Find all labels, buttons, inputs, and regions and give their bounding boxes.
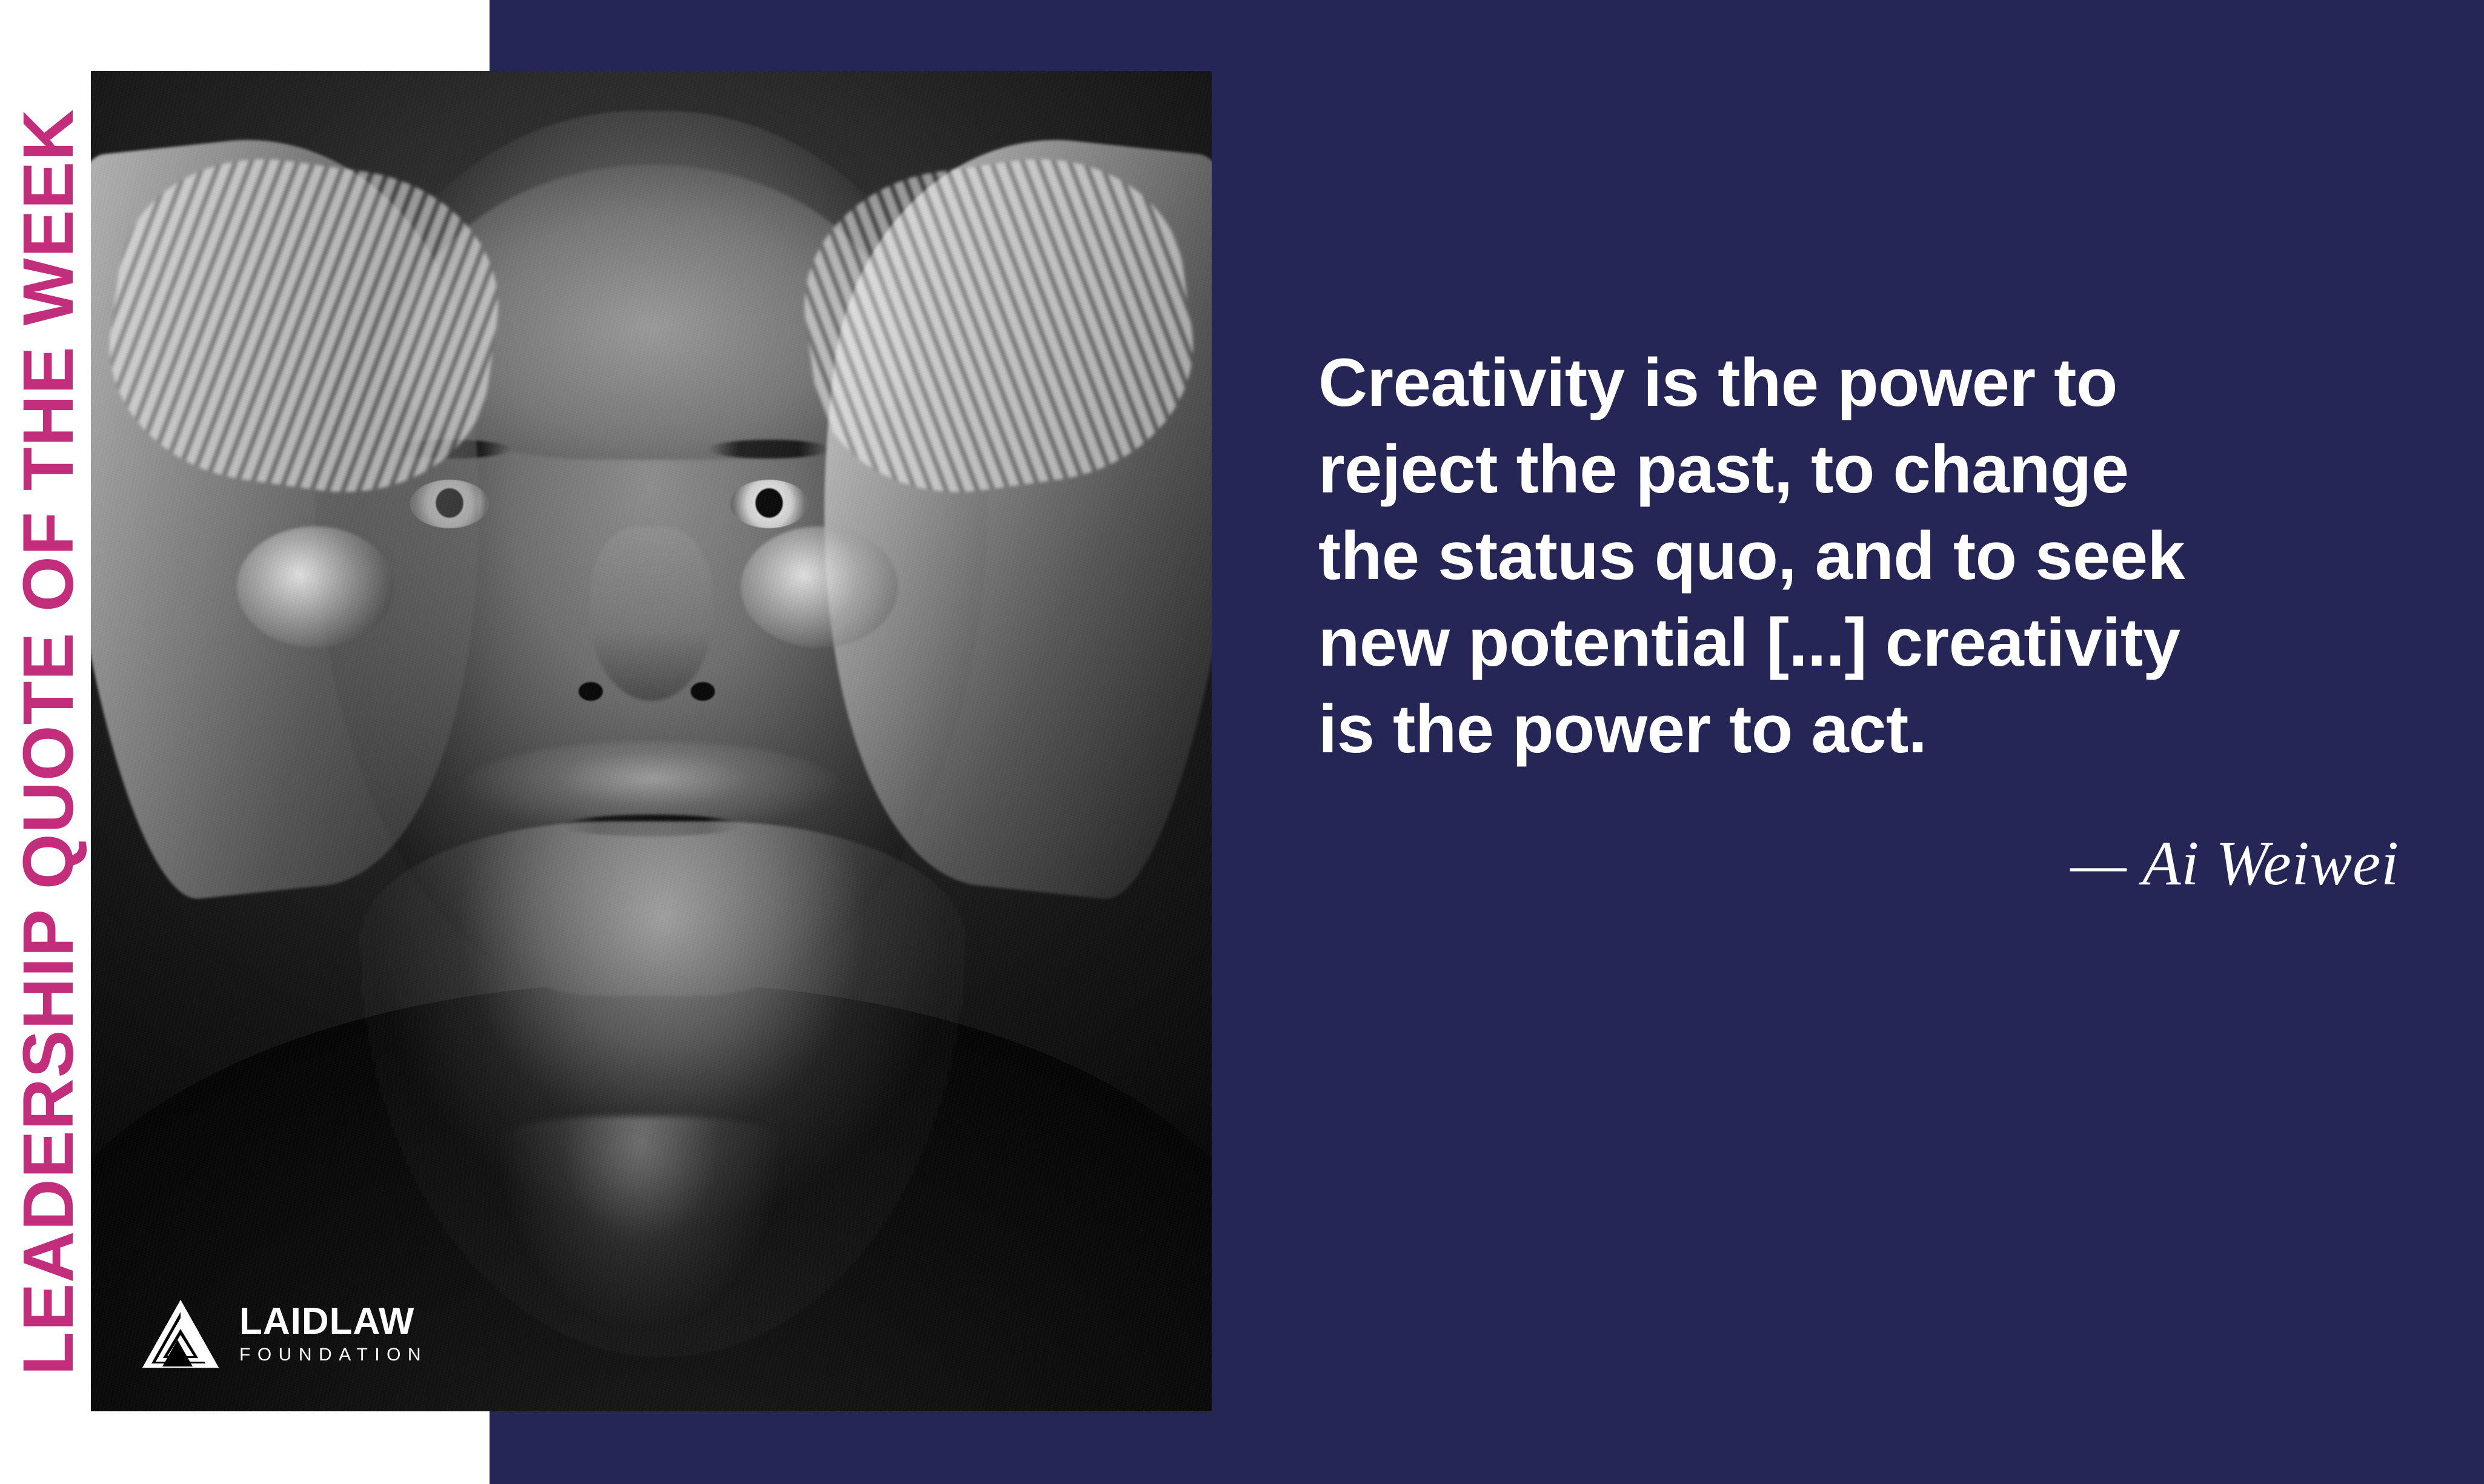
vertical-banner-label: LEADERSHIP QUOTE OF THE WEEK — [13, 109, 84, 1376]
quote-line: the status quo, and to seek — [1318, 512, 2403, 599]
laidlaw-name: LAIDLAW — [239, 1302, 428, 1341]
laidlaw-wordmark: LAIDLAW FOUNDATION — [239, 1302, 428, 1365]
quote-attribution: — Ai Weiwei — [1318, 829, 2403, 898]
quote-block: Creativity is the power to reject the pa… — [1318, 339, 2403, 898]
vertical-banner: LEADERSHIP QUOTE OF THE WEEK — [0, 0, 97, 1484]
quote-line: Creativity is the power to — [1318, 339, 2403, 426]
portrait-brow-right — [708, 440, 831, 459]
portrait-thumb-right — [741, 526, 898, 647]
portrait-thumb-left — [237, 526, 394, 647]
quote-card: LEADERSHIP QUOTE OF THE WEEK — [0, 0, 2484, 1484]
portrait-nose — [589, 526, 713, 701]
portrait-eye-right — [730, 480, 809, 528]
quote-line: new potential [...] creativity — [1318, 599, 2403, 686]
laidlaw-subtitle: FOUNDATION — [239, 1344, 428, 1366]
quote-line: is the power to act. — [1318, 686, 2403, 772]
portrait-photo-canvas — [91, 71, 1212, 1411]
quote-line: reject the past, to change — [1318, 426, 2403, 512]
laidlaw-triangle-icon — [142, 1300, 219, 1368]
portrait-photo: LAIDLAW FOUNDATION — [91, 71, 1212, 1411]
laidlaw-foundation-logo: LAIDLAW FOUNDATION — [142, 1300, 428, 1368]
